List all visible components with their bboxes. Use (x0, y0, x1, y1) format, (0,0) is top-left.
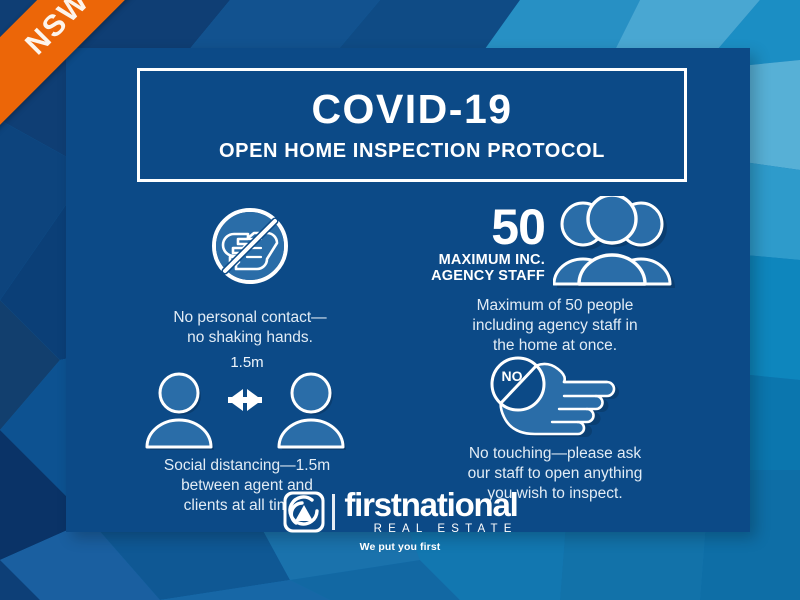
caption-line-1: Maximum of 50 people (390, 296, 720, 316)
content-card: COVID-19 OPEN HOME INSPECTION PROTOCOL (66, 48, 750, 532)
rule-caption: Maximum of 50 people including agency st… (390, 296, 720, 356)
no-pointing-hand-icon: NO (485, 354, 625, 438)
brand-subtitle: REAL ESTATE (344, 524, 517, 536)
brand-wordmark: firstnational REAL ESTATE (344, 488, 517, 536)
caption-line-2: including agency staff in (390, 316, 720, 336)
rule-caption: No personal contact— no shaking hands. (124, 308, 376, 348)
max-people-label-line-1: MAXIMUM INC. (431, 252, 545, 268)
double-arrow-icon (228, 389, 262, 411)
no-handshake-icon (198, 196, 302, 300)
rule-no-touching: NO No touching—please ask our staff to o… (390, 354, 720, 504)
caption-line-1: No touching—please ask (390, 444, 720, 464)
caption-line-1: No personal contact— (124, 308, 376, 328)
max-people-number: 50 (431, 202, 545, 252)
caption-line-1: Social distancing—1.5m (102, 456, 392, 476)
rule-icon-wrapper (102, 372, 392, 450)
title-box: COVID-19 OPEN HOME INSPECTION PROTOCOL (137, 68, 687, 182)
poster: COVID-19 OPEN HOME INSPECTION PROTOCOL (0, 0, 800, 600)
rule-no-personal-contact: No personal contact— no shaking hands. (124, 196, 376, 348)
max-people-label-line-2: AGENCY STAFF (431, 268, 545, 284)
footer-brand: firstnational REAL ESTATE We put you fir… (0, 488, 800, 562)
max-people-number-block: 50 MAXIMUM INC. AGENCY STAFF (431, 202, 545, 284)
brand-tagline: We put you first (360, 541, 441, 553)
rules-grid: No personal contact— no shaking hands. 5… (90, 196, 730, 496)
logo-divider (332, 494, 335, 530)
page-subtitle: OPEN HOME INSPECTION PROTOCOL (219, 141, 605, 162)
logo-row: firstnational REAL ESTATE (282, 488, 517, 536)
caption-line-2: our staff to open anything (390, 464, 720, 484)
no-badge-text: NO (502, 368, 523, 384)
rule-icon-wrapper: NO (390, 354, 720, 438)
group-of-people-icon (553, 196, 679, 290)
rule-max-people: 50 MAXIMUM INC. AGENCY STAFF (390, 196, 720, 356)
caption-line-2: no shaking hands. (124, 328, 376, 348)
distance-label: 1.5m (102, 354, 392, 371)
two-people-distance-icon (144, 372, 350, 450)
first-national-logo-icon (282, 490, 326, 534)
brand-name: firstnational (344, 488, 517, 521)
page-title: COVID-19 (311, 88, 512, 131)
max-people-row: 50 MAXIMUM INC. AGENCY STAFF (390, 196, 720, 290)
rule-icon-wrapper (124, 196, 376, 300)
